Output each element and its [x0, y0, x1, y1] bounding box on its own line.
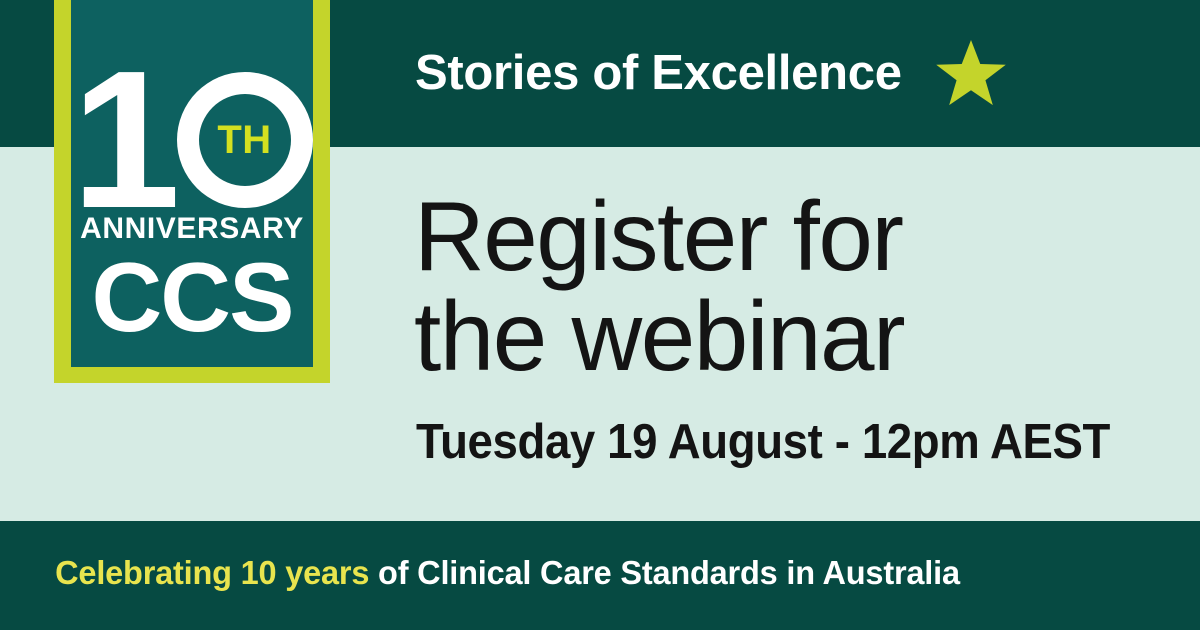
anniversary-logo: 1 TH ANNIVERSARY CCS — [54, 0, 330, 383]
logo-acronym: CCS — [71, 248, 313, 346]
logo-th-label: TH — [217, 120, 271, 160]
footer-tagline: Celebrating 10 years of Clinical Care St… — [0, 553, 960, 593]
logo-anniversary-label: ANNIVERSARY — [71, 214, 313, 244]
header-title: Stories of Excellence — [415, 49, 902, 98]
footer-tagline-highlight: Celebrating 10 years — [55, 554, 369, 591]
headline-line-2: the webinar — [414, 286, 1114, 386]
logo-digit-one: 1 — [71, 72, 174, 208]
star-icon — [934, 37, 1008, 111]
headline-line-1: Register for — [414, 186, 1114, 286]
footer-band: Celebrating 10 years of Clinical Care St… — [0, 521, 1200, 630]
logo-ten-mark: 1 TH — [71, 72, 313, 208]
footer-tagline-rest: of Clinical Care Standards in Australia — [369, 554, 960, 591]
logo-zero-ring: TH — [177, 72, 313, 208]
headline-block: Register for the webinar — [414, 186, 1114, 386]
logo-zero-ring-hole: TH — [199, 94, 291, 186]
header-content: Stories of Excellence — [415, 0, 1008, 147]
webinar-promo-banner: Stories of Excellence 1 TH ANNIVERSARY C… — [0, 0, 1200, 630]
anniversary-logo-panel: 1 TH ANNIVERSARY CCS — [71, 0, 313, 367]
event-date-time: Tuesday 19 August - 12pm AEST — [416, 414, 1110, 470]
